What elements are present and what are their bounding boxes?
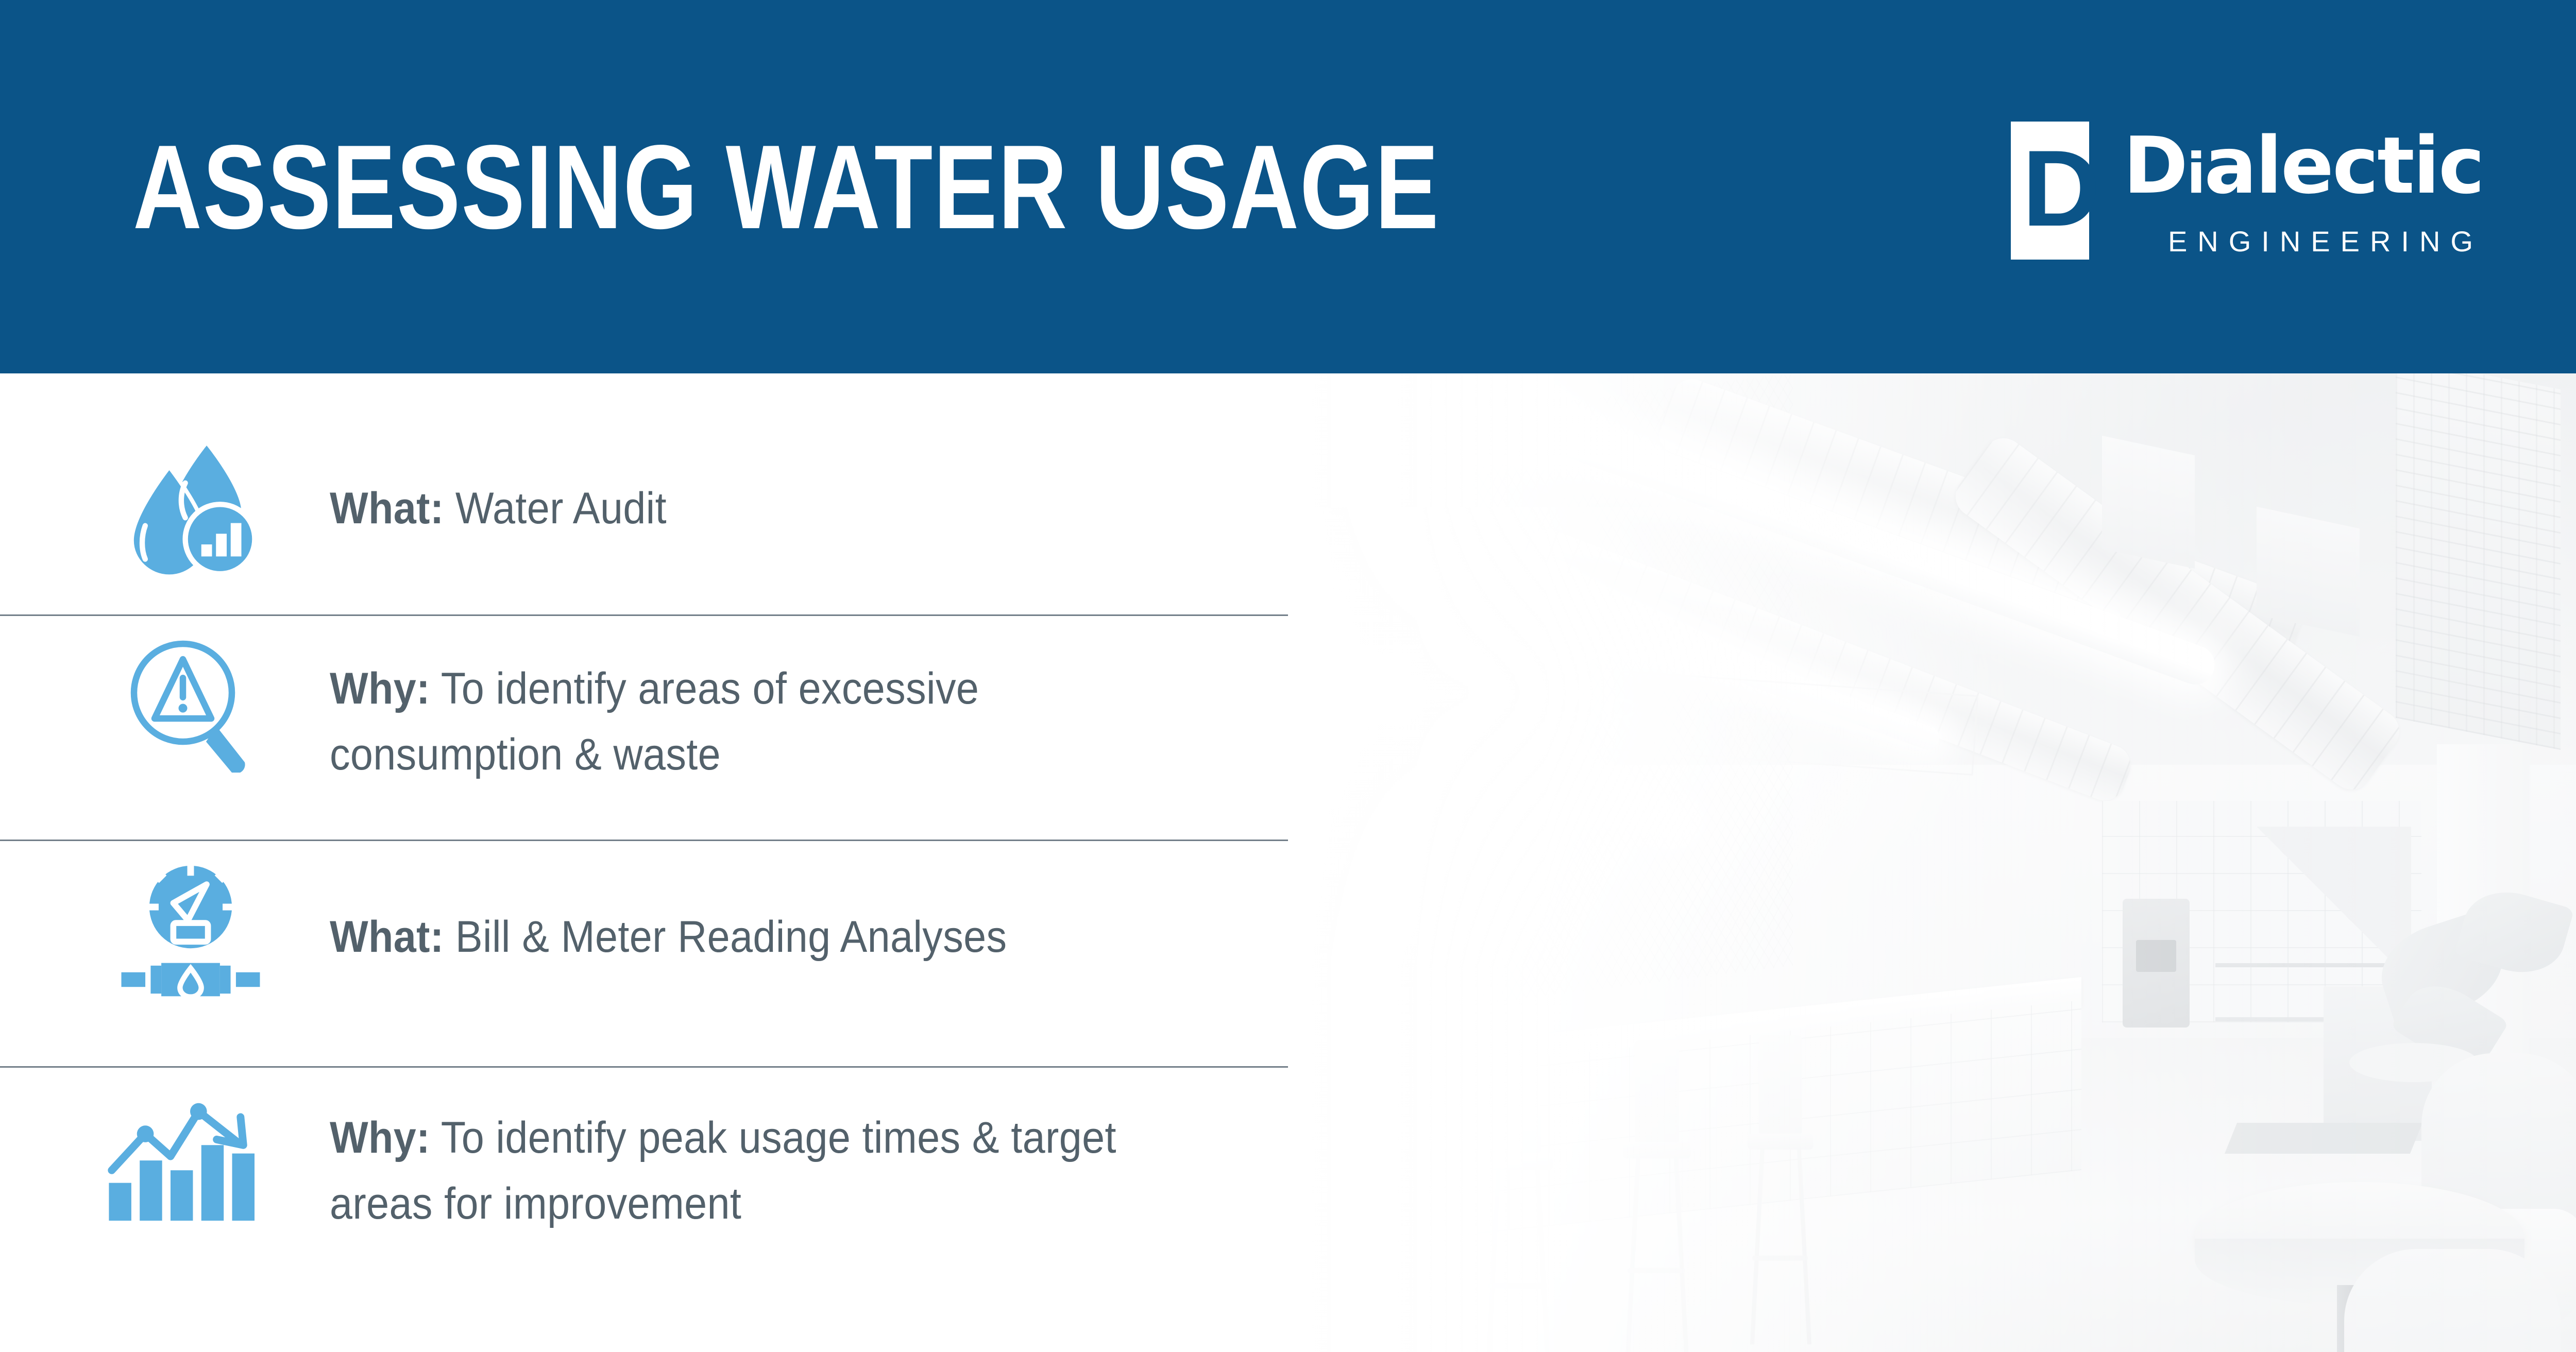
magnifier-warning-icon xyxy=(113,628,268,783)
row-1-value: Water Audit xyxy=(455,484,667,533)
lounge-armchair xyxy=(2344,1249,2561,1352)
row-divider xyxy=(0,614,1288,616)
meter-pipe xyxy=(122,963,260,997)
logo-wordmark-rest: alectic xyxy=(2204,120,2483,211)
page-title: ASSESSING WATER USAGE xyxy=(133,128,1439,247)
row-2-text: Why: To identify areas of excessive cons… xyxy=(330,656,1197,788)
kitchen-shelf-top xyxy=(2215,963,2401,967)
content-list: What: Water Audit Why: To identify areas… xyxy=(0,373,1298,1352)
row-4-label: Why: xyxy=(330,1113,430,1162)
logo-wordmark-i: i xyxy=(2187,142,2204,206)
bars xyxy=(109,1145,255,1221)
row-divider xyxy=(0,1066,1288,1068)
row-4-value: To identify peak usage times & target ar… xyxy=(330,1113,1116,1228)
brand-logo: D Dialectic ENGINEERING xyxy=(2011,122,2483,261)
logo-wordmark-group: Dialectic ENGINEERING xyxy=(2123,122,2483,258)
bar-chart-trend-icon xyxy=(103,1079,258,1234)
row-3-text: What: Bill & Meter Reading Analyses xyxy=(330,904,1197,970)
row-3-value: Bill & Meter Reading Analyses xyxy=(455,912,1007,962)
logo-mark-letter: D xyxy=(2022,143,2078,238)
row-4-text: Why: To identify peak usage times & targ… xyxy=(330,1105,1197,1237)
row-3-label: What: xyxy=(330,912,444,962)
photo-scene: REFRESH xyxy=(1288,373,2576,1352)
logo-subtitle: ENGINEERING xyxy=(2123,225,2483,258)
header-bar: ASSESSING WATER USAGE D Dialectic ENGINE… xyxy=(0,0,2576,373)
refresh-sign-text: REFRESH xyxy=(1479,678,1776,755)
row-1-label: What: xyxy=(330,484,444,533)
vent-box-1 xyxy=(2102,436,2195,569)
logo-mark-icon: D xyxy=(2011,122,2089,260)
background-photo: REFRESH xyxy=(1288,373,2576,1352)
row-2-label: Why: xyxy=(330,664,430,713)
vent-box-2 xyxy=(2257,507,2360,637)
gauge-dial xyxy=(147,864,235,948)
water-droplets-chart-icon xyxy=(113,438,268,592)
row-divider xyxy=(0,840,1288,841)
logo-wordmark-d: D xyxy=(2123,120,2187,211)
slide-root: REFRESH xyxy=(0,0,2576,1352)
water-meter-gauge-icon xyxy=(113,852,268,1007)
floor-mat xyxy=(2225,1123,2422,1154)
ceiling-grille xyxy=(2396,373,2561,750)
logo-wordmark: Dialectic xyxy=(2123,127,2483,213)
row-1-text: What: Water Audit xyxy=(330,475,1197,541)
coffee-machine-screen xyxy=(2136,940,2176,972)
